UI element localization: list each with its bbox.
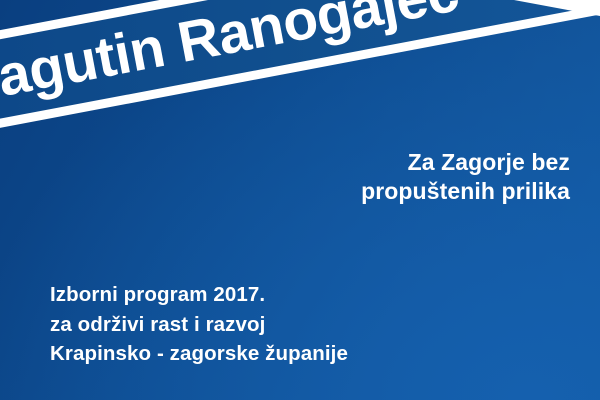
campaign-slogan: Za Zagorje bez propuštenih prilika (150, 148, 570, 207)
program-subtitle: Izborni program 2017. za održivi rast i … (50, 280, 348, 369)
election-program-poster: Dragutin Ranogajec Za Zagorje bez propuš… (0, 0, 600, 400)
ribbon-outline (0, 0, 600, 143)
name-ribbon: Dragutin Ranogajec (0, 0, 600, 143)
candidate-name: Dragutin Ranogajec (0, 0, 463, 118)
slogan-line-1: Za Zagorje bez (150, 148, 570, 177)
subtitle-line-3: Krapinsko - zagorske županije (50, 339, 348, 369)
ribbon-fill (0, 0, 600, 133)
subtitle-line-2: za održivi rast i razvoj (50, 310, 348, 340)
slogan-line-2: propuštenih prilika (150, 177, 570, 206)
subtitle-line-1: Izborni program 2017. (50, 280, 348, 310)
ribbon-corner-wedge (514, 0, 600, 26)
